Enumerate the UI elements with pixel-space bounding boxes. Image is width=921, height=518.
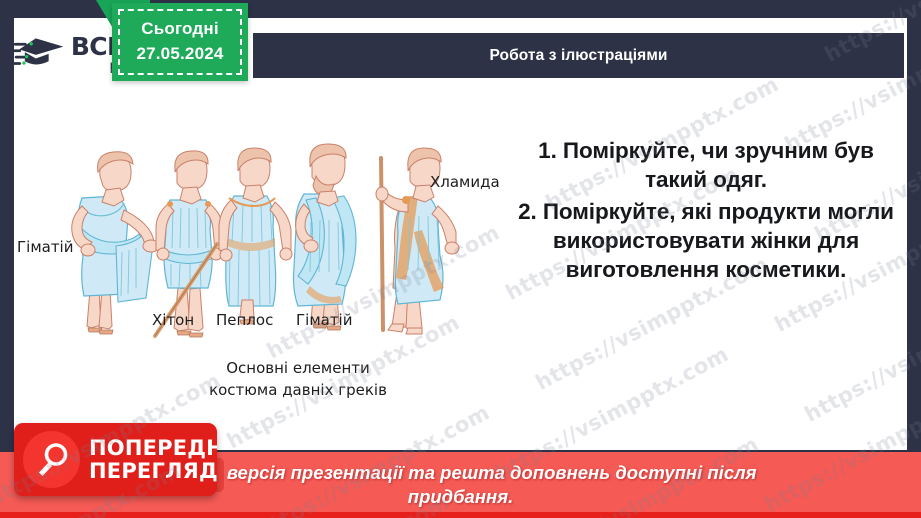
task-item-2: 2. Поміркуйте, які продукти могли викори…: [508, 197, 904, 285]
slide-header-bar: Робота з ілюстраціями: [253, 33, 904, 78]
task-text-2: Поміркуйте, які продукти могли використо…: [543, 199, 894, 283]
task-number-2: 2.: [518, 199, 537, 224]
preview-badge-text: ПОПЕРЕДНІЙ ПЕРЕГЛЯД: [89, 437, 217, 482]
illustration-caption: Основні елементи костюма давніх греків: [198, 358, 398, 402]
presentation-slide: Гіматій Хітон Пеплос Гіматій Хламида Осн…: [0, 0, 921, 518]
preview-badge-line1: ПОПЕРЕДНІЙ: [89, 437, 217, 460]
illustration-label-chlamys: Хламида: [430, 173, 500, 191]
task-item-1: 1. Поміркуйте, чи зручним був такий одяг…: [508, 136, 904, 195]
task-list: 1. Поміркуйте, чи зручним був такий одяг…: [508, 136, 904, 286]
date-badge-label: Сьогодні: [141, 17, 219, 42]
date-badge-value: 27.05.2024: [136, 42, 223, 67]
preview-badge-circle: [23, 431, 80, 488]
illustration-label-himation-1: Гіматій: [17, 238, 73, 256]
page-title: Робота з ілюстраціями: [489, 47, 667, 65]
illustration-label-chiton: Хітон: [152, 311, 194, 329]
graduation-cap-icon: [12, 31, 69, 75]
preview-badge[interactable]: ПОПЕРЕДНІЙ ПЕРЕГЛЯД: [14, 423, 217, 496]
purchase-notice-text: Повна версія презентації та решта доповн…: [141, 461, 781, 510]
greek-costume-illustration: [18, 118, 488, 368]
task-number-1: 1.: [538, 138, 557, 163]
illustration-label-himation-2: Гіматій: [296, 311, 352, 329]
illustration-label-peplos: Пеплос: [216, 311, 273, 329]
magnifier-icon: [32, 440, 72, 480]
task-text-1: Поміркуйте, чи зручним був такий одяг.: [563, 138, 874, 192]
date-badge: Сьогодні 27.05.2024: [112, 3, 248, 81]
preview-badge-line2: ПЕРЕГЛЯД: [89, 460, 217, 483]
